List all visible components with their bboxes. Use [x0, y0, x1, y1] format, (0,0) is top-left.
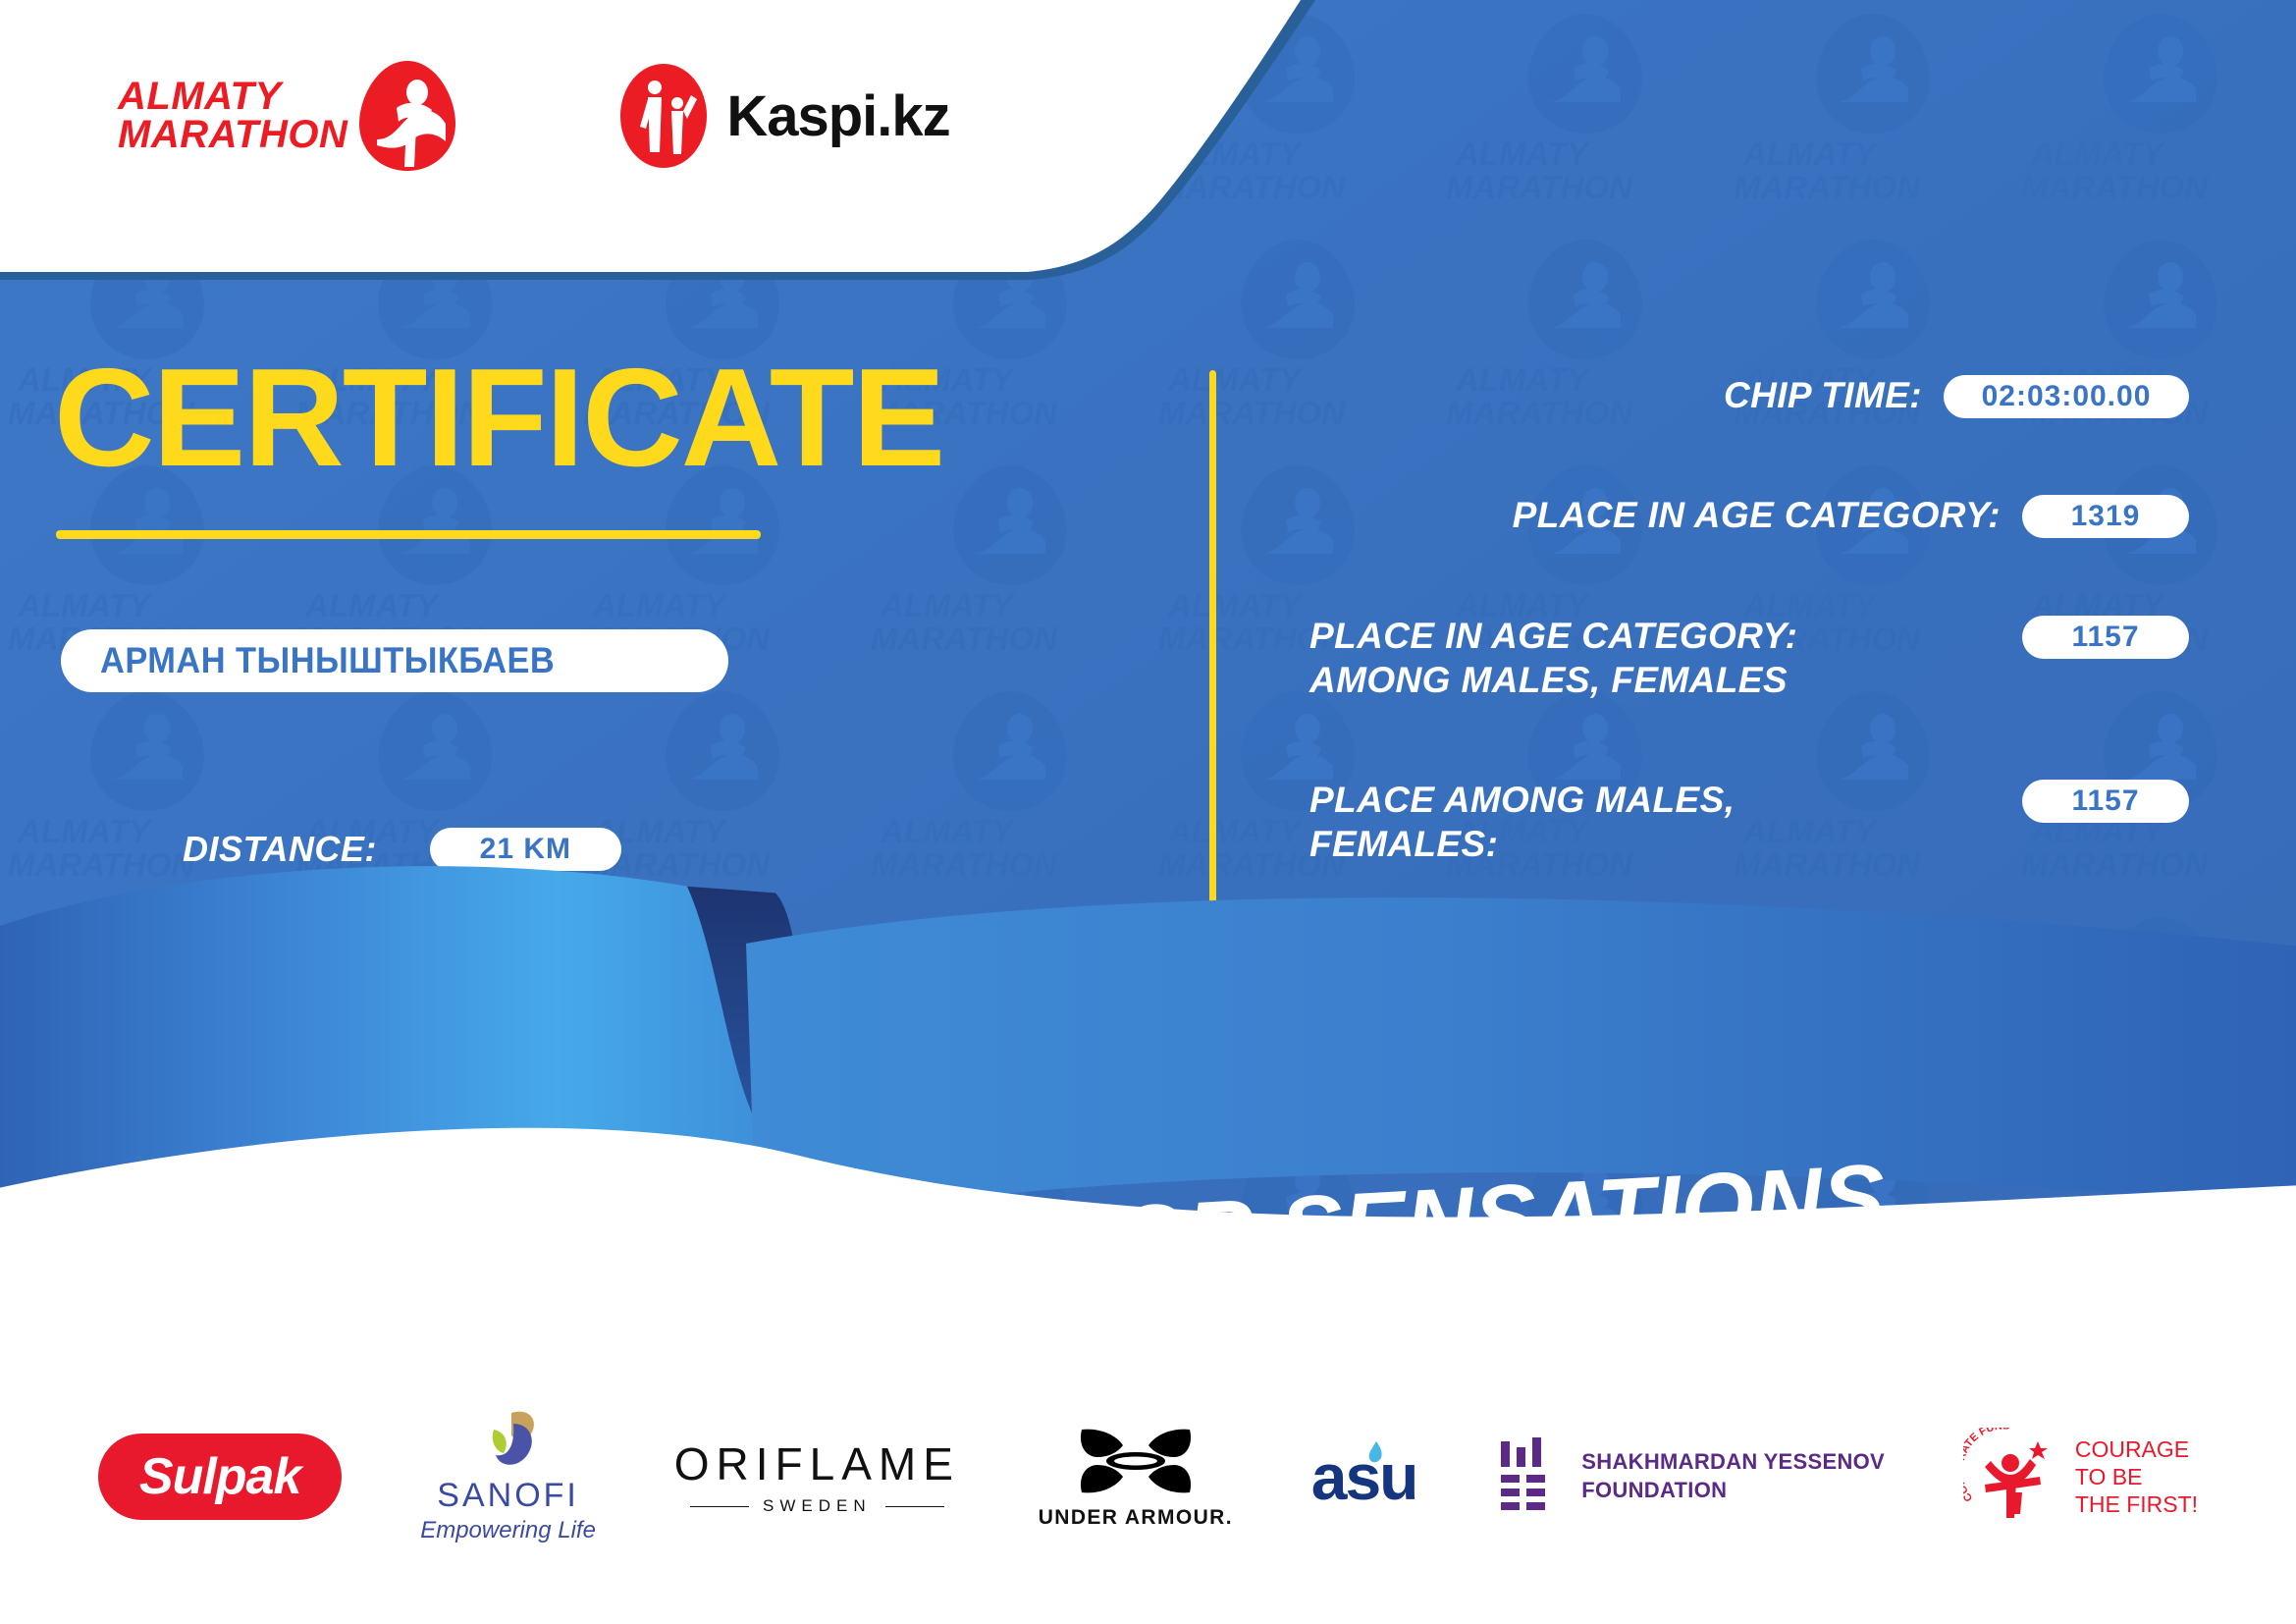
- almaty-marathon-runner-icon: [353, 57, 461, 175]
- sanofi-wordmark: SANOFI: [437, 1477, 579, 1515]
- event-date: APRIL 21 st: [100, 1110, 523, 1307]
- almaty-marathon-line1: ALMATY: [118, 78, 347, 116]
- finish-time-label: FINISH TIME:: [183, 912, 410, 953]
- stat-label-place-age-category: PLACE IN AGE CATEGORY:: [1276, 493, 2022, 537]
- event-day: 21: [312, 1118, 465, 1281]
- stat-value-place-age-category: 1319: [2022, 495, 2189, 538]
- yessenov-wordmark: SHAKHMARDAN YESSENOV FOUNDATION: [1581, 1448, 1885, 1504]
- kaspi-people-icon: [618, 62, 709, 170]
- stat-row-place-overall: PLACE OVERALL RANKING: 1319: [1276, 941, 2189, 986]
- header-logos: ALMATY MARATHON Kaspi.kz: [118, 57, 950, 175]
- certificate-canvas: ALMATY MARATHON ALMATY MARATHON: [0, 0, 2296, 1624]
- sponsor-sulpak: Sulpak: [98, 1434, 343, 1520]
- stat-value-place-age-category-gender: 1157: [2022, 616, 2189, 659]
- sponsor-asu: asu: [1311, 1439, 1417, 1514]
- stat-row-chip-time: CHIP TIME: 02:03:00.00: [1276, 373, 2189, 418]
- courage-runner-icon: CORPORATE FUND: [1963, 1428, 2061, 1526]
- sulpak-wordmark: Sulpak: [98, 1434, 343, 1520]
- sanofi-tagline: Empowering Life: [420, 1517, 596, 1544]
- finish-time-row: FINISH TIME: 02:06:49.00: [183, 911, 617, 954]
- event-day-ordinal: st: [469, 1182, 521, 1246]
- distance-row: DISTANCE: 21 KM: [183, 828, 621, 871]
- sponsor-under-armour: UNDER ARMOUR.: [1039, 1424, 1233, 1530]
- distance-label: DISTANCE:: [183, 829, 377, 870]
- oriflame-wordmark: ORIFLAME: [674, 1437, 960, 1490]
- stat-label-place-among-gender: PLACE AMONG MALES, FEMALES:: [1276, 778, 2022, 866]
- almaty-marathon-line2: MARATHON: [118, 116, 347, 154]
- stat-value-place-among-gender: 1157: [2022, 780, 2189, 823]
- page-title: CERTIFICATE: [54, 349, 943, 488]
- participant-name-value: АРМАН ТЫНЫШТЫКБАЕВ: [100, 640, 555, 681]
- oriflame-rule-right: [885, 1506, 944, 1507]
- kaspi-logo: Kaspi.kz: [618, 62, 949, 170]
- oriflame-rule-left: [690, 1506, 749, 1507]
- sponsor-oriflame: ORIFLAME SWEDEN: [674, 1437, 960, 1516]
- under-armour-wordmark: UNDER ARMOUR.: [1039, 1506, 1233, 1530]
- stat-label-place-age-category-gender: PLACE IN AGE CATEGORY: AMONG MALES, FEMA…: [1276, 614, 2022, 702]
- stat-value-place-overall: 1319: [2022, 943, 2189, 986]
- distance-value: 21 KM: [430, 828, 621, 871]
- almaty-marathon-wordmark: ALMATY MARATHON: [118, 78, 347, 154]
- event-slogan: RUN FOR SENSATIONS: [823, 1144, 1888, 1311]
- oriflame-subline: SWEDEN: [690, 1496, 944, 1516]
- finish-time-value: 02:06:49.00: [426, 911, 617, 954]
- stat-label-place-overall: PLACE OVERALL RANKING:: [1276, 941, 2022, 985]
- sanofi-mark-icon: [472, 1410, 545, 1475]
- participant-name-field: АРМАН ТЫНЫШТЫКБАЕВ: [61, 629, 728, 692]
- event-month: APRIL: [108, 1194, 315, 1292]
- courage-line2: TO BE: [2075, 1464, 2143, 1489]
- sponsor-yessenov-foundation: SHAKHMARDAN YESSENOV FOUNDATION: [1495, 1437, 1885, 1516]
- kaspi-wordmark: Kaspi.kz: [726, 83, 949, 149]
- sponsor-strip: Sulpak SANOFI Empowering Life ORIFLAME S…: [0, 1329, 2296, 1624]
- column-divider: [1209, 370, 1216, 1097]
- stat-value-chip-time: 02:03:00.00: [1944, 375, 2189, 418]
- yessenov-line2: FOUNDATION: [1581, 1478, 1727, 1502]
- courage-line1: COURAGE: [2075, 1436, 2189, 1462]
- stat-row-place-age-category: PLACE IN AGE CATEGORY: 1319: [1276, 493, 2189, 538]
- courage-line3: THE FIRST!: [2075, 1491, 2198, 1517]
- yessenov-line1: SHAKHMARDAN YESSENOV: [1581, 1449, 1885, 1474]
- asu-droplet-icon: [1362, 1439, 1388, 1469]
- title-underline: [56, 530, 761, 539]
- stat-row-place-age-category-gender: PLACE IN AGE CATEGORY: AMONG MALES, FEMA…: [1276, 614, 2189, 702]
- sponsor-sanofi: SANOFI Empowering Life: [420, 1410, 596, 1544]
- stat-label-chip-time: CHIP TIME:: [1276, 373, 1944, 417]
- almaty-marathon-logo: ALMATY MARATHON: [118, 57, 461, 175]
- oriflame-country: SWEDEN: [763, 1496, 872, 1516]
- sponsor-corporate-fund: CORPORATE FUND COURAGE TO BE THE FIRST!: [1963, 1428, 2198, 1526]
- courage-wordmark: COURAGE TO BE THE FIRST!: [2075, 1435, 2198, 1518]
- stat-row-place-among-gender: PLACE AMONG MALES, FEMALES: 1157: [1276, 778, 2189, 866]
- yessenov-mark-icon: [1495, 1437, 1560, 1516]
- under-armour-logo-icon: [1074, 1424, 1198, 1498]
